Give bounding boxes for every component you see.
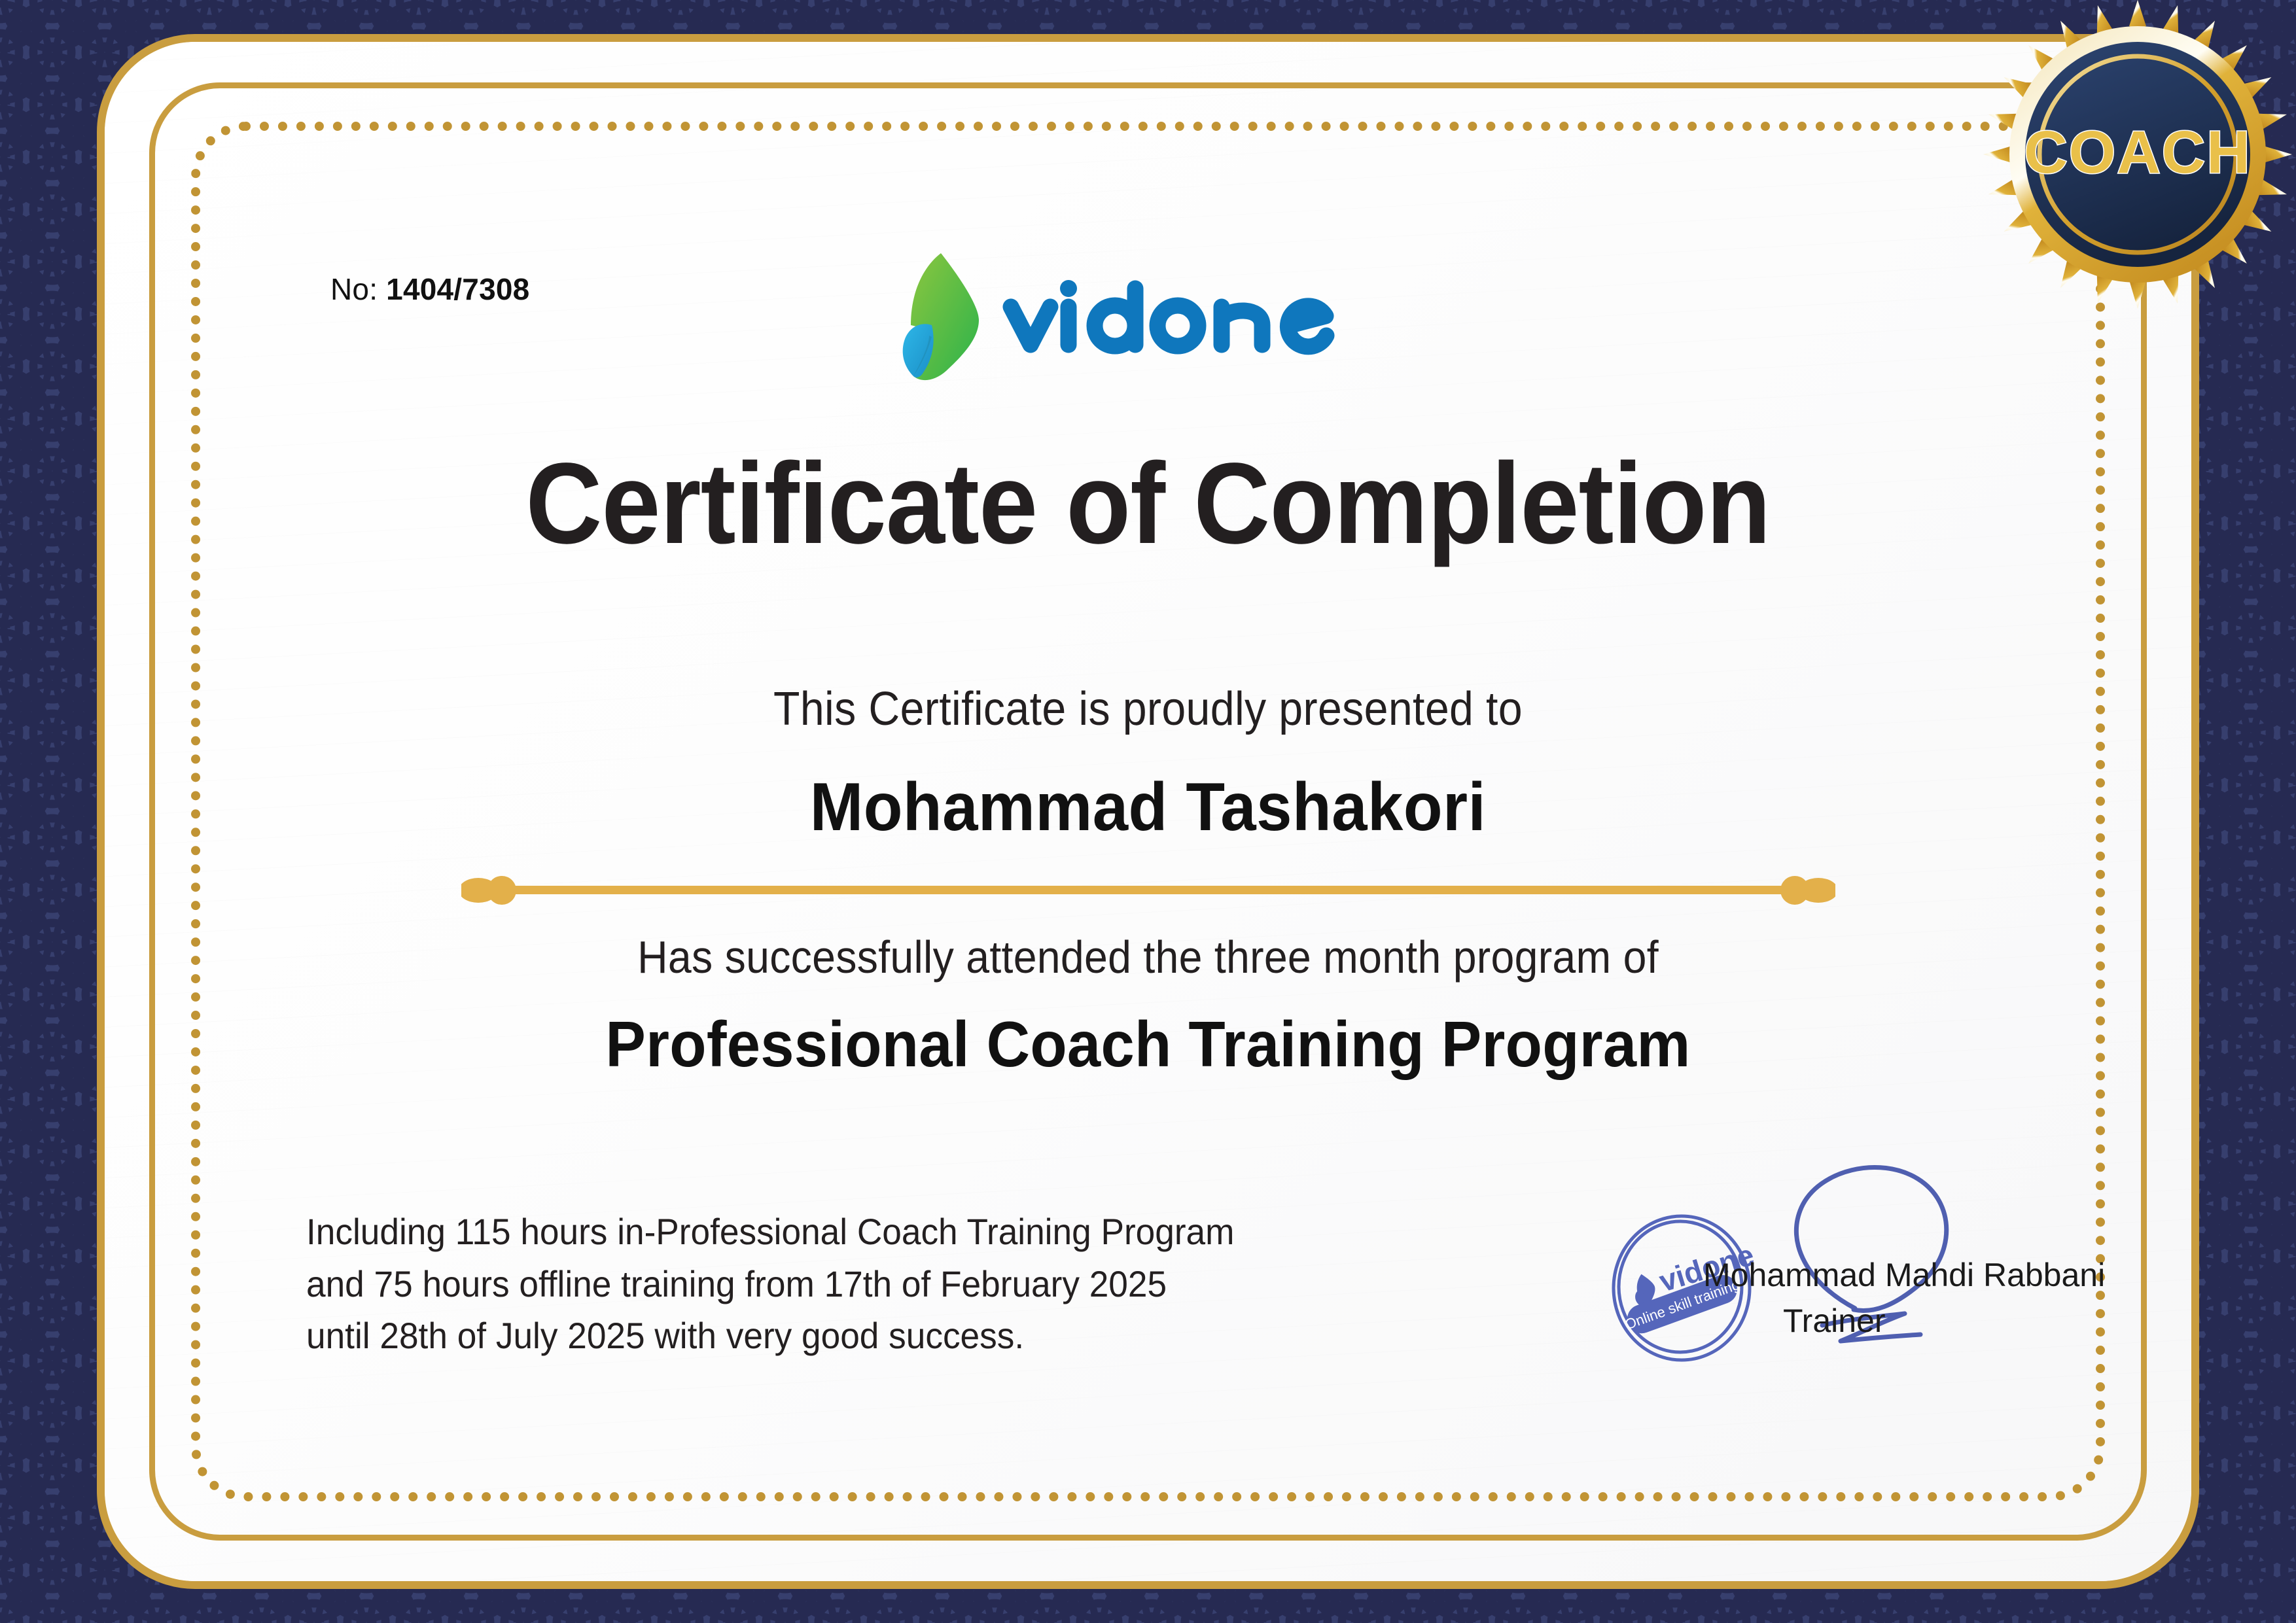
certificate-canvas: No: 1404/7308: [0, 0, 2296, 1623]
vidone-leaf-icon: [895, 252, 983, 383]
certificate-number-value: 1404/7308: [386, 272, 529, 306]
coach-badge-label: COACH: [2024, 119, 2251, 186]
attended-line: Has successfully attended the three mont…: [92, 931, 2204, 983]
vidone-wordmark: [1000, 279, 1367, 355]
page-title: Certificate of Completion: [92, 446, 2204, 561]
presented-line: This Certificate is proudly presented to: [92, 682, 2204, 736]
body-line-3: until 28th of July 2025 with very good s…: [306, 1310, 1425, 1362]
body-paragraph: Including 115 hours in-Professional Coac…: [306, 1206, 1425, 1362]
gold-divider: [461, 875, 1835, 905]
recipient-name: Mohammad Tashakori: [69, 769, 2227, 846]
signatory-name: Mohammad Mahdi Rabbani: [1703, 1256, 2122, 1294]
body-line-2: and 75 hours offline training from 17th …: [306, 1258, 1425, 1310]
program-name: Professional Coach Training Program: [69, 1007, 2227, 1081]
certificate-number: No: 1404/7308: [330, 271, 529, 307]
vidone-logo: [895, 252, 1367, 383]
certificate-number-label: No:: [330, 272, 378, 306]
coach-badge: COACH: [1981, 0, 2295, 311]
signatory-role: Trainer: [1703, 1302, 2122, 1340]
signature-block: vidone Online skill training Mohammad: [1606, 1151, 2143, 1426]
body-line-1: Including 115 hours in-Professional Coac…: [306, 1206, 1425, 1258]
